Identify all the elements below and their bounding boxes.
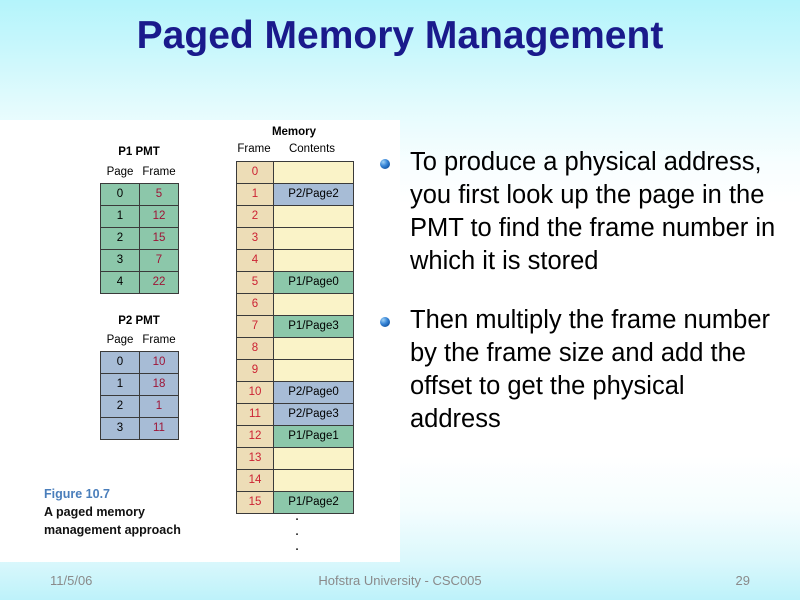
- memory-frame-number: 1: [237, 184, 274, 206]
- p2-page-map-table: 01011821311: [100, 351, 179, 440]
- memory-caption: Memory: [236, 126, 352, 138]
- pmt-page-number: 2: [101, 228, 140, 250]
- pmt-page-number: 1: [101, 206, 140, 228]
- memory-contents-header: Contents: [272, 143, 352, 155]
- table-row: 10P2/Page0: [237, 382, 354, 404]
- bullet-list: To produce a physical address, you first…: [376, 146, 776, 462]
- memory-frame-contents: P2/Page3: [274, 404, 354, 426]
- memory-frame-contents: [274, 250, 354, 272]
- memory-frame-number: 8: [237, 338, 274, 360]
- memory-frame-number: 5: [237, 272, 274, 294]
- list-item: To produce a physical address, you first…: [376, 146, 776, 278]
- memory-frame-contents: P2/Page0: [274, 382, 354, 404]
- memory-frame-contents: [274, 448, 354, 470]
- pmt-frame-number: 1: [140, 396, 179, 418]
- memory-frame-number: 14: [237, 470, 274, 492]
- pmt-page-number: 3: [101, 250, 140, 272]
- p2-pmt-page-header: Page: [101, 334, 139, 346]
- memory-continuation-dots: ...: [292, 510, 302, 555]
- p2-pmt-caption: P2 PMT: [100, 315, 178, 327]
- table-row: 311: [101, 418, 179, 440]
- physical-memory-table: 01P2/Page22345P1/Page067P1/Page38910P2/P…: [236, 161, 354, 514]
- memory-frame-number: 10: [237, 382, 274, 404]
- bullet-sphere-icon: [380, 317, 390, 327]
- list-item: Then multiply the frame number by the fr…: [376, 304, 776, 436]
- pmt-frame-number: 18: [140, 374, 179, 396]
- table-row: 215: [101, 228, 179, 250]
- pmt-page-number: 4: [101, 272, 140, 294]
- memory-frame-contents: [274, 470, 354, 492]
- memory-frame-number: 0: [237, 162, 274, 184]
- memory-frame-contents: P1/Page3: [274, 316, 354, 338]
- page-title: Paged Memory Management: [60, 14, 740, 58]
- p1-page-map-table: 0511221537422: [100, 183, 179, 294]
- memory-body: 01P2/Page22345P1/Page067P1/Page38910P2/P…: [237, 162, 354, 514]
- table-row: 010: [101, 352, 179, 374]
- table-row: 9: [237, 360, 354, 382]
- table-row: 4: [237, 250, 354, 272]
- memory-frame-number: 9: [237, 360, 274, 382]
- memory-frame-contents: [274, 360, 354, 382]
- memory-frame-number: 15: [237, 492, 274, 514]
- pmt-frame-number: 22: [140, 272, 179, 294]
- memory-frame-number: 7: [237, 316, 274, 338]
- pmt-page-number: 3: [101, 418, 140, 440]
- p2-pmt-body: 01011821311: [101, 352, 179, 440]
- figure-caption: Figure 10.7 A paged memory management ap…: [44, 485, 214, 539]
- continuation-dot: .: [292, 540, 302, 555]
- memory-frame-header: Frame: [236, 143, 272, 155]
- table-row: 37: [101, 250, 179, 272]
- table-row: 112: [101, 206, 179, 228]
- p2-pmt-frame-header: Frame: [139, 334, 179, 346]
- table-row: 13: [237, 448, 354, 470]
- pmt-frame-number: 7: [140, 250, 179, 272]
- pmt-frame-number: 10: [140, 352, 179, 374]
- continuation-dot: .: [292, 510, 302, 525]
- memory-frame-contents: P1/Page1: [274, 426, 354, 448]
- pmt-page-number: 1: [101, 374, 140, 396]
- pmt-frame-number: 11: [140, 418, 179, 440]
- table-row: 2: [237, 206, 354, 228]
- memory-frame-number: 3: [237, 228, 274, 250]
- p1-pmt-body: 0511221537422: [101, 184, 179, 294]
- continuation-dot: .: [292, 525, 302, 540]
- memory-frame-contents: [274, 294, 354, 316]
- slide-footer: 11/5/06 Hofstra University - CSC005 29: [0, 570, 800, 592]
- footer-page-number: 29: [736, 570, 750, 592]
- table-row: 8: [237, 338, 354, 360]
- table-row: 12P1/Page1: [237, 426, 354, 448]
- pmt-frame-number: 5: [140, 184, 179, 206]
- memory-frame-contents: P1/Page0: [274, 272, 354, 294]
- table-row: 14: [237, 470, 354, 492]
- figure-area: P1 PMT Page Frame 0511221537422 P2 PMT P…: [0, 120, 400, 562]
- table-row: 21: [101, 396, 179, 418]
- slide-canvas: Paged Memory Management P1 PMT Page Fram…: [0, 0, 800, 600]
- memory-frame-contents: [274, 228, 354, 250]
- p1-pmt-caption: P1 PMT: [100, 146, 178, 158]
- memory-frame-number: 4: [237, 250, 274, 272]
- table-row: 6: [237, 294, 354, 316]
- table-row: 05: [101, 184, 179, 206]
- memory-frame-number: 13: [237, 448, 274, 470]
- memory-frame-contents: P2/Page2: [274, 184, 354, 206]
- bullet-text: To produce a physical address, you first…: [410, 148, 775, 275]
- pmt-frame-number: 15: [140, 228, 179, 250]
- bullet-text: Then multiply the frame number by the fr…: [410, 306, 770, 433]
- memory-frame-number: 11: [237, 404, 274, 426]
- memory-frame-number: 6: [237, 294, 274, 316]
- bullet-sphere-icon: [380, 159, 390, 169]
- p1-pmt-page-header: Page: [101, 166, 139, 178]
- p1-pmt-frame-header: Frame: [139, 166, 179, 178]
- table-row: 0: [237, 162, 354, 184]
- table-row: 11P2/Page3: [237, 404, 354, 426]
- pmt-page-number: 0: [101, 352, 140, 374]
- figure-number: Figure 10.7: [44, 485, 214, 503]
- memory-frame-number: 12: [237, 426, 274, 448]
- pmt-page-number: 2: [101, 396, 140, 418]
- table-row: 1P2/Page2: [237, 184, 354, 206]
- memory-frame-contents: [274, 206, 354, 228]
- memory-frame-contents: [274, 162, 354, 184]
- memory-frame-contents: P1/Page2: [274, 492, 354, 514]
- table-row: 3: [237, 228, 354, 250]
- pmt-frame-number: 12: [140, 206, 179, 228]
- table-row: 118: [101, 374, 179, 396]
- pmt-page-number: 0: [101, 184, 140, 206]
- memory-frame-contents: [274, 338, 354, 360]
- footer-course: Hofstra University - CSC005: [0, 570, 800, 592]
- table-row: 7P1/Page3: [237, 316, 354, 338]
- table-row: 422: [101, 272, 179, 294]
- table-row: 5P1/Page0: [237, 272, 354, 294]
- memory-frame-number: 2: [237, 206, 274, 228]
- figure-caption-text: A paged memory management approach: [44, 503, 214, 539]
